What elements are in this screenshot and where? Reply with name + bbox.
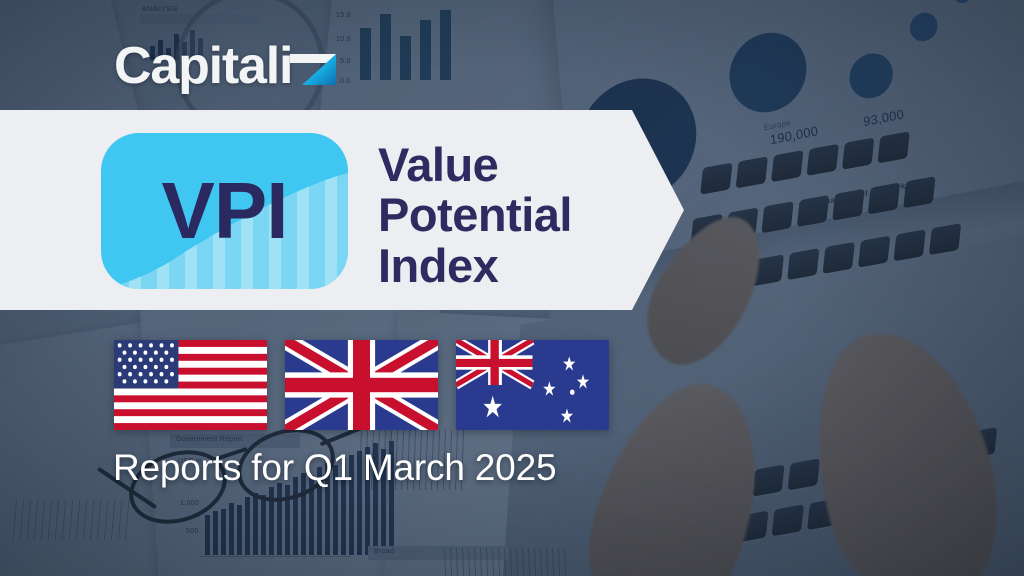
product-name-line-3: Index bbox=[378, 241, 572, 291]
capitaliz-wordmark: Capitali bbox=[114, 40, 292, 92]
flag-row bbox=[114, 340, 609, 430]
product-name-line-2: Potential bbox=[378, 190, 572, 240]
vpi-abbreviation: VPI bbox=[101, 171, 348, 251]
capitaliz-z-icon bbox=[290, 41, 340, 91]
flag-united-kingdom bbox=[285, 340, 438, 430]
product-name-line-1: Value bbox=[378, 140, 572, 190]
vpi-product-name: Value Potential Index bbox=[378, 140, 572, 291]
flag-united-states bbox=[114, 340, 267, 430]
capitaliz-logo: Capitali bbox=[114, 40, 340, 92]
page-title: Reports for Q1 March 2025 bbox=[113, 447, 556, 489]
promo-banner-image: ANALYSIS 15.0 10.0 5.0 0.0 190,00 bbox=[0, 0, 1024, 576]
flag-australia bbox=[456, 340, 609, 430]
vpi-logo-tile: VPI bbox=[101, 133, 348, 289]
